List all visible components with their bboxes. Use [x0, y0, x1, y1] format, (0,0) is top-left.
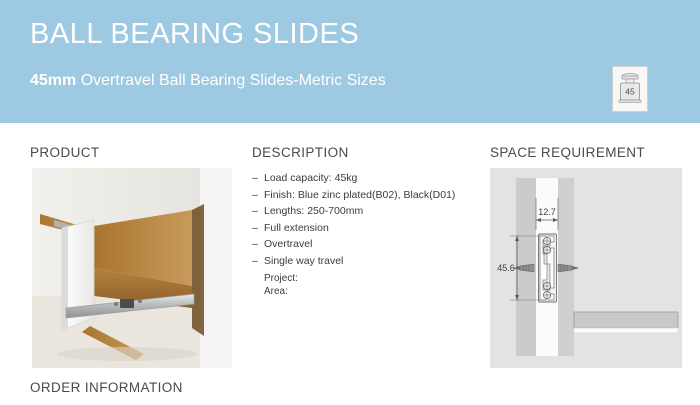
space-requirement-diagram: 12.7: [490, 168, 682, 368]
area-label: Area:: [264, 285, 298, 298]
order-meta-fields: Project: Area:: [264, 272, 298, 298]
bullet-dash: –: [252, 236, 258, 253]
slide-cross-section-drawing: 12.7: [490, 168, 682, 368]
list-item-label: Lengths: 250-700mm: [264, 205, 363, 217]
page-header: BALL BEARING SLIDES 45mm Overtravel Ball…: [0, 0, 700, 123]
bullet-dash: –: [252, 220, 258, 237]
bullet-dash: –: [252, 203, 258, 220]
section-heading-product: PRODUCT: [30, 145, 100, 160]
description-list: – Load capacity: 45kg – Finish: Blue zin…: [252, 170, 477, 269]
section-heading-order-information: ORDER INFORMATION: [30, 380, 183, 395]
page-subtitle-lead: 45mm: [30, 72, 76, 89]
list-item-label: Finish: Blue zinc plated(B02), Black(D01…: [264, 189, 455, 201]
slide-profile-icon: 45: [613, 67, 647, 111]
section-heading-space-requirement: SPACE REQUIREMENT: [490, 145, 645, 160]
section-heading-description: DESCRIPTION: [252, 145, 349, 160]
drawer-slide-photo-illustration: [32, 168, 232, 368]
slide-profile-badge: 45: [612, 66, 648, 112]
project-label: Project:: [264, 272, 298, 285]
product-photo: [32, 168, 232, 368]
width-dimension-label: 12.7: [538, 207, 556, 217]
bullet-dash: –: [252, 187, 258, 204]
list-item: – Single way travel: [252, 253, 477, 270]
bullet-dash: –: [252, 170, 258, 187]
page-title: BALL BEARING SLIDES: [30, 18, 359, 51]
list-item-label: Load capacity: 45kg: [264, 172, 357, 184]
list-item: – Full extension: [252, 220, 477, 237]
bullet-dash: –: [252, 253, 258, 270]
page-subtitle-rest: Overtravel Ball Bearing Slides-Metric Si…: [76, 72, 385, 89]
list-item-label: Single way travel: [264, 255, 343, 267]
badge-value-text: 45: [625, 87, 635, 97]
list-item: – Finish: Blue zinc plated(B02), Black(D…: [252, 187, 477, 204]
list-item: – Load capacity: 45kg: [252, 170, 477, 187]
list-item-label: Full extension: [264, 222, 329, 234]
height-dimension-label: 45.6: [497, 263, 515, 273]
page-subtitle: 45mm Overtravel Ball Bearing Slides-Metr…: [30, 72, 386, 90]
list-item: – Overtravel: [252, 236, 477, 253]
list-item-label: Overtravel: [264, 238, 312, 250]
list-item: – Lengths: 250-700mm: [252, 203, 477, 220]
